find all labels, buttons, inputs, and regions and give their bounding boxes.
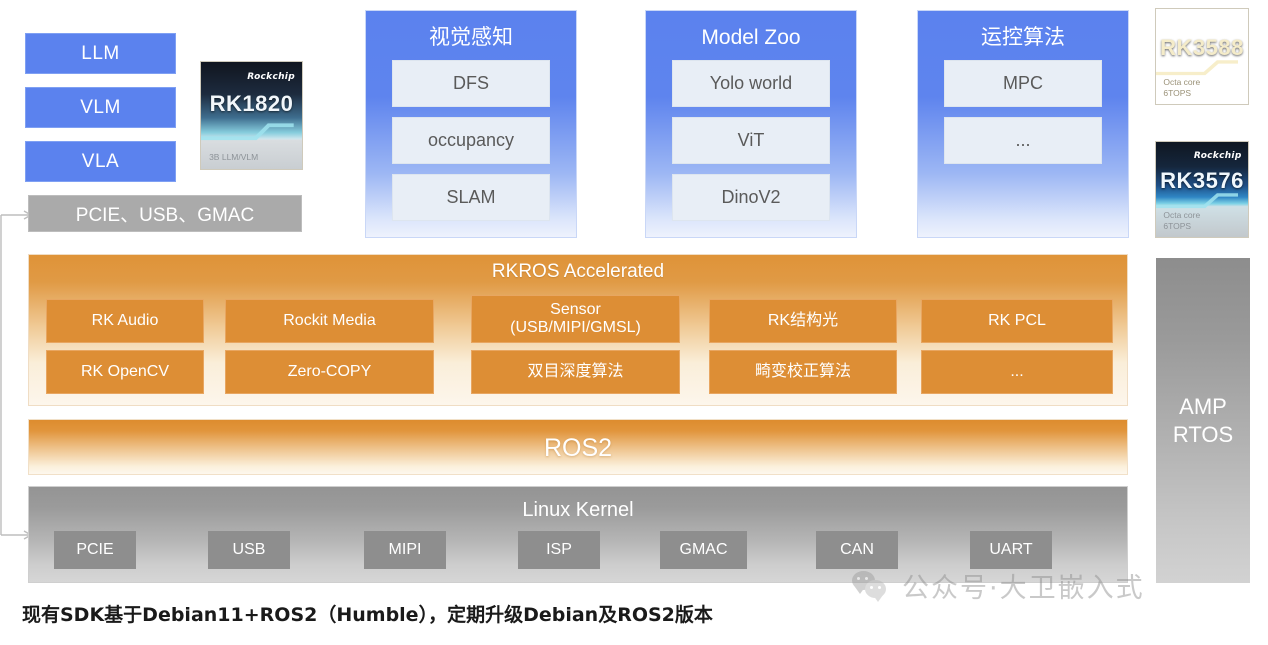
panel-vision-perception: 视觉感知 DFS occupancy SLAM (365, 10, 577, 238)
chip-rk3588-model: RK3588 (1156, 35, 1248, 61)
panel-model-zoo-item-dinov2[interactable]: DinoV2 (672, 174, 830, 221)
rkros-cell-rk-audio[interactable]: RK Audio (46, 299, 204, 343)
bus-bar-label: PCIE、USB、GMAC (76, 200, 254, 227)
kernel-module-pcie-label: PCIE (76, 541, 113, 559)
chip-rk3588-sub: Octa core 6TOPS (1163, 77, 1200, 98)
panel-motion-control: 运控算法 MPC ... (917, 10, 1129, 238)
kernel-module-can-label: CAN (840, 541, 874, 559)
panel-motion-control-item-mpc[interactable]: MPC (944, 60, 1102, 107)
panel-vision-perception-title: 视觉感知 (366, 19, 576, 60)
column-amp-rtos[interactable]: AMP RTOS (1156, 258, 1250, 583)
panel-motion-control-item-mpc-label: MPC (1003, 73, 1043, 94)
chip-rk3576-brand: Rockchip (1194, 151, 1242, 161)
rkros-cell-more[interactable]: ... (921, 350, 1113, 394)
kernel-module-isp[interactable]: ISP (518, 531, 600, 569)
chip-rk3576: Rockchip RK3576 Octa core 6TOPS (1155, 141, 1249, 238)
band-linux-kernel: Linux Kernel PCIE USB MIPI ISP GMAC CAN … (28, 486, 1128, 583)
panel-vision-item-slam-label: SLAM (446, 187, 495, 208)
kernel-module-usb-label: USB (233, 541, 266, 559)
rkros-cell-rk-opencv[interactable]: RK OpenCV (46, 350, 204, 394)
diagram-canvas: LLM VLM VLA PCIE、USB、GMAC Rockchip RK182… (0, 0, 1268, 645)
panel-motion-control-title: 运控算法 (918, 19, 1128, 60)
model-box-vlm-label: VLM (80, 97, 121, 119)
band-ros2-label: ROS2 (29, 434, 1127, 463)
panel-rkros-accelerated: RKROS Accelerated RK Audio Rockit Media … (28, 254, 1128, 406)
kernel-module-can[interactable]: CAN (816, 531, 898, 569)
rkros-cell-rk-opencv-label: RK OpenCV (81, 363, 169, 381)
bus-bar-pcie-usb-gmac[interactable]: PCIE、USB、GMAC (28, 195, 302, 232)
chip-rk1820-model: RK1820 (201, 91, 302, 117)
column-amp-rtos-label: AMP RTOS (1173, 393, 1233, 448)
chip-rk3588: Rockchip RK3588 Octa core 6TOPS (1155, 8, 1249, 105)
band-ros2[interactable]: ROS2 (28, 419, 1128, 475)
rkros-cell-zero-copy[interactable]: Zero-COPY (225, 350, 434, 394)
model-box-llm-label: LLM (81, 43, 119, 65)
rkros-cell-stereo-depth[interactable]: 双目深度算法 (471, 350, 680, 394)
rkros-cell-sensor[interactable]: Sensor (USB/MIPI/GMSL) (471, 295, 680, 343)
kernel-module-gmac[interactable]: GMAC (660, 531, 747, 569)
panel-model-zoo-item-vit-label: ViT (738, 130, 765, 151)
panel-rkros-title: RKROS Accelerated (29, 261, 1127, 283)
rkros-cell-rk-pcl-label: RK PCL (988, 312, 1046, 330)
panel-vision-item-occupancy[interactable]: occupancy (392, 117, 550, 164)
panel-model-zoo-item-yolo-world[interactable]: Yolo world (672, 60, 830, 107)
kernel-module-mipi[interactable]: MIPI (364, 531, 446, 569)
band-linux-kernel-label: Linux Kernel (29, 499, 1127, 522)
rkros-cell-rockit-media[interactable]: Rockit Media (225, 299, 434, 343)
kernel-module-pcie[interactable]: PCIE (54, 531, 136, 569)
panel-motion-control-item-more[interactable]: ... (944, 117, 1102, 164)
kernel-module-uart[interactable]: UART (970, 531, 1052, 569)
rkros-cell-rockit-media-label: Rockit Media (283, 312, 375, 330)
chip-rk3576-model: RK3576 (1156, 168, 1248, 194)
model-box-vlm[interactable]: VLM (25, 87, 176, 128)
kernel-module-isp-label: ISP (546, 541, 572, 559)
chip-rk1820-brand: Rockchip (247, 72, 295, 82)
rkros-cell-rk-audio-label: RK Audio (92, 312, 159, 330)
rkros-cell-zero-copy-label: Zero-COPY (288, 363, 372, 381)
panel-vision-item-slam[interactable]: SLAM (392, 174, 550, 221)
rkros-cell-distortion-correction-label: 畸变校正算法 (755, 363, 851, 381)
rkros-cell-distortion-correction[interactable]: 畸变校正算法 (709, 350, 897, 394)
panel-model-zoo-item-yolo-world-label: Yolo world (710, 73, 792, 94)
rkros-cell-stereo-depth-label: 双目深度算法 (527, 363, 623, 381)
kernel-module-mipi-label: MIPI (389, 541, 422, 559)
rkros-cell-structured-light[interactable]: RK结构光 (709, 299, 897, 343)
panel-vision-item-dfs-label: DFS (453, 73, 489, 94)
panel-vision-item-occupancy-label: occupancy (428, 130, 514, 151)
panel-motion-control-item-more-label: ... (1015, 130, 1030, 151)
model-box-vla-label: VLA (82, 151, 119, 173)
panel-model-zoo-title: Model Zoo (646, 19, 856, 60)
chip-rk3588-brand: Rockchip (1194, 18, 1242, 28)
chip-rk1820: Rockchip RK1820 3B LLM/VLM (200, 61, 303, 170)
panel-model-zoo-item-dinov2-label: DinoV2 (721, 187, 780, 208)
chip-rk3576-sub: Octa core 6TOPS (1163, 210, 1200, 231)
panel-model-zoo: Model Zoo Yolo world ViT DinoV2 (645, 10, 857, 238)
footer-note: 现有SDK基于Debian11+ROS2（Humble），定期升级Debian及… (22, 600, 713, 627)
chip-rk1820-sub: 3B LLM/VLM (209, 152, 258, 163)
rkros-cell-more-label: ... (1010, 363, 1023, 381)
panel-vision-item-dfs[interactable]: DFS (392, 60, 550, 107)
rkros-cell-rk-pcl[interactable]: RK PCL (921, 299, 1113, 343)
kernel-module-usb[interactable]: USB (208, 531, 290, 569)
model-box-vla[interactable]: VLA (25, 141, 176, 182)
kernel-module-uart-label: UART (989, 541, 1032, 559)
kernel-module-gmac-label: GMAC (680, 541, 728, 559)
panel-model-zoo-item-vit[interactable]: ViT (672, 117, 830, 164)
model-box-llm[interactable]: LLM (25, 33, 176, 74)
rkros-cell-structured-light-label: RK结构光 (768, 312, 838, 330)
rkros-cell-sensor-label: Sensor (USB/MIPI/GMSL) (510, 301, 641, 338)
